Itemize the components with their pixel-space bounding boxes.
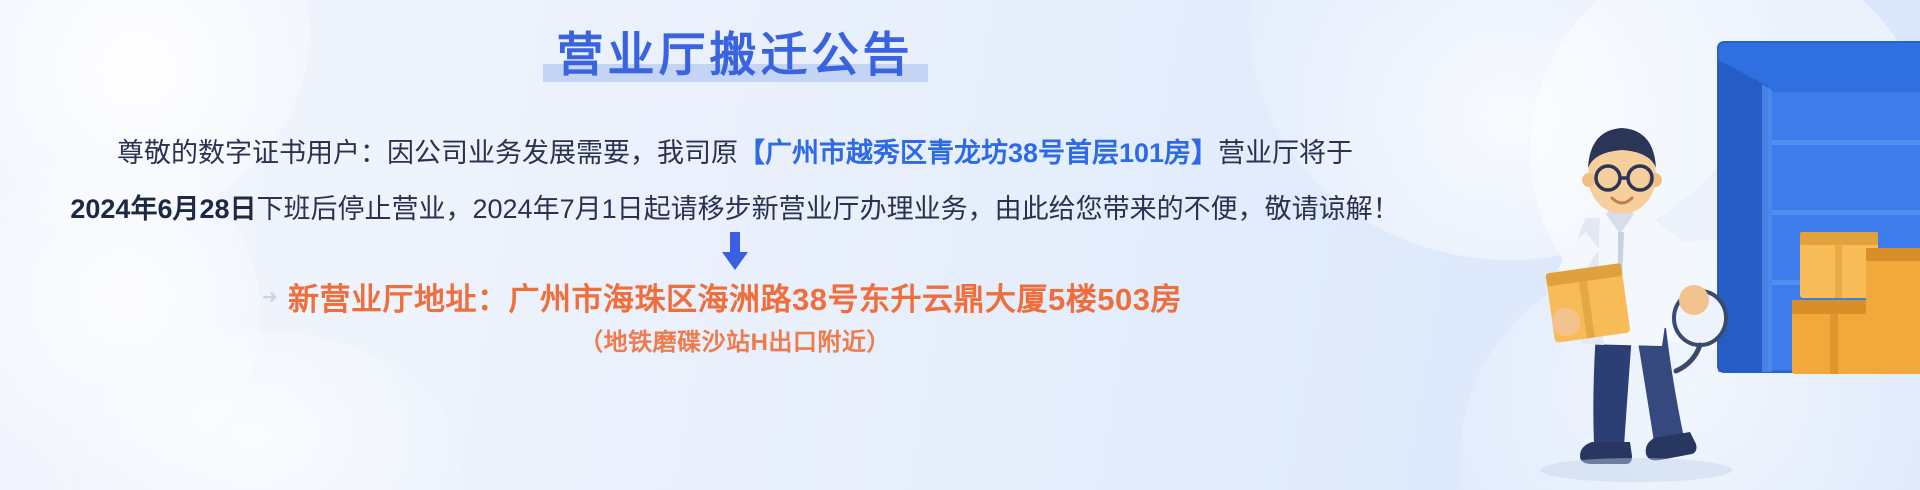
new-address: 新营业厅地址：广州市海珠区海洲路38号东升云鼎大厦5楼503房 [0,274,1470,319]
body-line-2-rest: 下班后停止营业，2024年7月1日起请移步新营业厅办理业务，由此给您带来的不便，… [257,194,1400,224]
truck-body [1674,42,1920,372]
body-line-1-part-2: 营业厅将于 [1218,138,1353,168]
body-line-2: 2024年6月28日下班后停止营业，2024年7月1日起请移步新营业厅办理业务，… [0,196,1470,223]
delivery-person [1545,128,1709,464]
announcement-content: 营业厅搬迁公告 尊敬的数字证书用户：因公司业务发展需要，我司原【广州市越秀区青龙… [0,0,1470,490]
body-line-1-part-1: 尊敬的数字证书用户：因公司业务发展需要，我司原 [117,138,738,168]
decorative-blob-right-bottom [1460,240,1920,490]
new-address-note: （地铁磨碟沙站H出口附近） [0,322,1470,357]
cardboard-boxes [1792,232,1920,374]
delivery-truck-illustration [1400,0,1920,490]
page-title-text: 营业厅搬迁公告 [557,28,914,81]
page-title: 营业厅搬迁公告 [551,26,920,85]
announcement-banner: 营业厅搬迁公告 尊敬的数字证书用户：因公司业务发展需要，我司原【广州市越秀区青龙… [0,0,1920,490]
page-title-wrapper: 营业厅搬迁公告 [0,26,1470,85]
held-package [1545,263,1630,343]
down-arrow-icon [717,232,753,272]
closing-date: 2024年6月28日 [70,194,256,224]
down-arrow-wrapper [0,232,1470,272]
body-line-1: 尊敬的数字证书用户：因公司业务发展需要，我司原【广州市越秀区青龙坊38号首层10… [0,140,1470,167]
old-address-highlight: 【广州市越秀区青龙坊38号首层101房】 [738,138,1218,168]
